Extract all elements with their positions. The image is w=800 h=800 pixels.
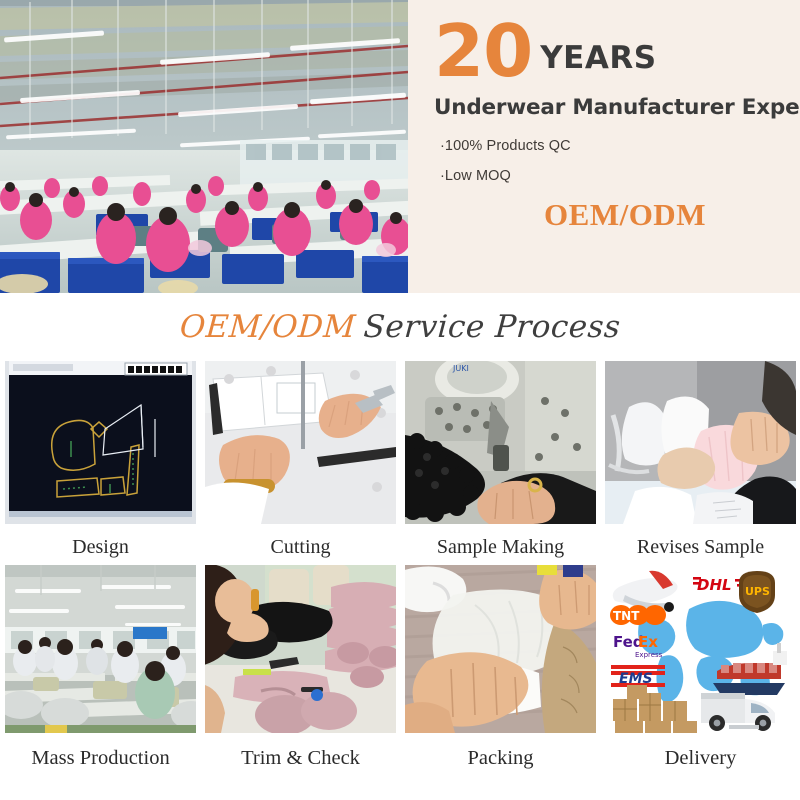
process-item-mass-production[interactable]: Mass Production [5, 565, 196, 776]
process-item-revises-sample[interactable]: Revises Sample [605, 361, 796, 565]
process-item-sample-making[interactable]: JUKI [405, 361, 596, 565]
process-label: Sample Making [405, 524, 596, 565]
hero-bullet-item: ·Low MOQ [440, 168, 571, 184]
years-unit: YEARS [540, 40, 656, 76]
sample-making-thumbnail: JUKI [405, 361, 596, 524]
delivery-thumbnail: DHL UPS [605, 565, 796, 733]
hero-subtitle: Underwear Manufacturer Experience [434, 95, 800, 120]
section-title-rest: Service Process [362, 309, 621, 345]
process-label: Mass Production [5, 733, 196, 776]
process-label: Revises Sample [605, 524, 796, 565]
packing-thumbnail [405, 565, 596, 733]
hero-text-panel: 20 YEARS Underwear Manufacturer Experien… [408, 0, 800, 293]
trim-check-thumbnail [205, 565, 396, 733]
hero-bullet-item: ·100% Products QC [440, 138, 571, 154]
process-label: Trim & Check [205, 733, 396, 776]
svg-text:JUKI: JUKI [452, 364, 469, 373]
process-row-1: Design [5, 361, 795, 565]
hero-bullet-list: ·100% Products QC ·Low MOQ [440, 138, 571, 198]
factory-photo [0, 0, 408, 293]
process-item-trim-check[interactable]: Trim & Check [205, 565, 396, 776]
process-grid: Design [0, 361, 800, 776]
process-item-cutting[interactable]: Cutting [205, 361, 396, 565]
svg-text:Express: Express [635, 651, 663, 659]
svg-text:UPS: UPS [745, 585, 770, 598]
mass-production-thumbnail [5, 565, 196, 733]
process-item-packing[interactable]: Packing [405, 565, 596, 776]
svg-text:DHL: DHL [697, 576, 732, 594]
process-item-design[interactable]: Design [5, 361, 196, 565]
process-item-delivery[interactable]: DHL UPS [605, 565, 796, 776]
process-row-2: Mass Production [5, 565, 795, 776]
promo-banner-page: 20 YEARS Underwear Manufacturer Experien… [0, 0, 800, 800]
svg-text:EMS: EMS [619, 671, 653, 687]
process-label: Design [5, 524, 196, 565]
hero-oem-odm-label: OEM/ODM [408, 197, 800, 233]
section-title-accent: OEM/ODM [178, 309, 356, 345]
revises-sample-thumbnail [605, 361, 796, 524]
cutting-thumbnail [205, 361, 396, 524]
svg-text:Ex: Ex [638, 633, 658, 651]
years-number: 20 [434, 18, 532, 84]
design-thumbnail [5, 361, 196, 524]
process-label: Packing [405, 733, 596, 776]
hero-section: 20 YEARS Underwear Manufacturer Experien… [0, 0, 800, 293]
section-title: OEM/ODMService Process [0, 293, 800, 361]
years-badge: 20 YEARS [434, 18, 657, 84]
svg-text:TNT: TNT [613, 609, 640, 623]
process-label: Cutting [205, 524, 396, 565]
process-label: Delivery [605, 733, 796, 776]
